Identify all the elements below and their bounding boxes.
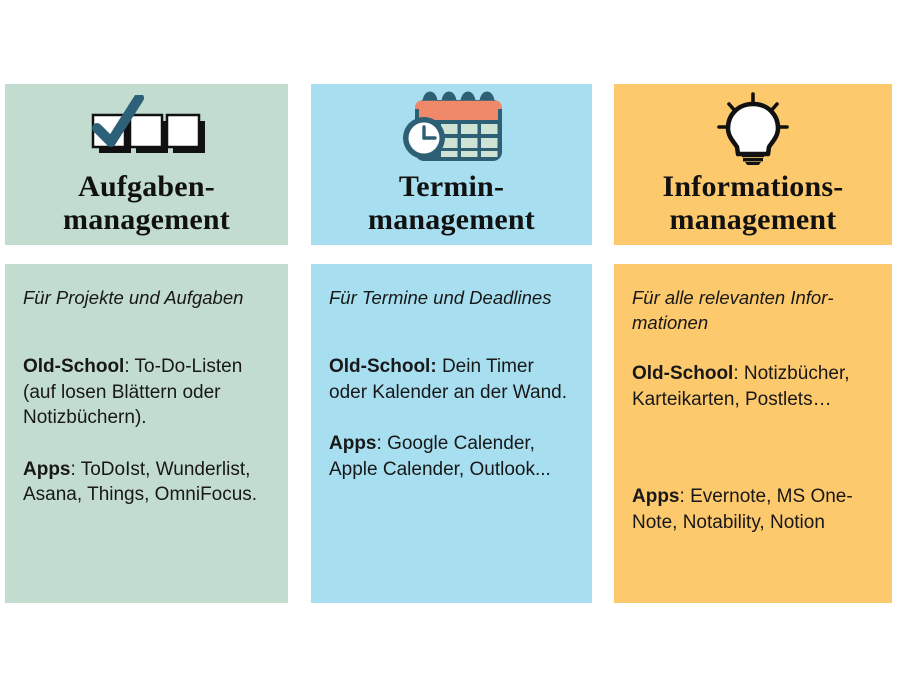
row-label: Old-School [23, 356, 124, 377]
row-separator: : [71, 459, 81, 480]
row-separator: : [124, 356, 134, 377]
header-card-terminmanagement: Termin- management [311, 84, 592, 245]
column-lead: Für alle relevanten Infor­mationen [632, 285, 874, 335]
row-separator: : [733, 363, 744, 384]
calendar-clock-icon [399, 92, 505, 164]
column-lead: Für Projekte und Aufgaben [23, 285, 270, 310]
row-apps: Apps: ToDoIst, Wunderlist, Asana, Things… [23, 457, 270, 508]
row-apps: Apps: Google Calender, Apple Calender, O… [329, 431, 574, 482]
row-separator: : [377, 433, 388, 454]
body-card-terminmanagement: Für Termine und Deadlines Old-School: De… [311, 264, 592, 603]
spacer [329, 405, 574, 431]
row-apps: Apps: Evernote, MS One-Note, Notability,… [632, 484, 874, 535]
checklist-icon [89, 92, 205, 164]
spacer [632, 335, 874, 361]
column-title: Termin- management [368, 170, 535, 236]
spacer [23, 431, 270, 457]
row-label: Apps [632, 486, 680, 507]
column-title: Aufgaben- management [63, 170, 230, 236]
column-terminmanagement: Termin- management Für Termine und Deadl… [311, 84, 592, 603]
row-label: Apps [23, 459, 71, 480]
row-separator: : [680, 486, 691, 507]
lightbulb-icon [707, 92, 799, 164]
column-lead: Für Termine und Deadlines [329, 285, 574, 310]
row-label: Old-School [632, 363, 733, 384]
spacer [632, 412, 874, 484]
column-informationsmanagement: Informations- management Für alle releva… [614, 84, 892, 603]
row-label: Old-School: [329, 356, 437, 377]
header-card-aufgabenmanagement: Aufgaben- management [5, 84, 288, 245]
row-old-school: Old-School: Notizbücher, Karteikarten, P… [632, 361, 874, 412]
body-card-aufgabenmanagement: Für Projekte und Aufgaben Old-School: To… [5, 264, 288, 603]
header-card-informationsmanagement: Informations- management [614, 84, 892, 245]
spacer [329, 310, 574, 354]
comparison-board: Aufgaben- management Für Projekte und Au… [0, 0, 902, 680]
body-card-informationsmanagement: Für alle relevanten Infor­mationen Old-S… [614, 264, 892, 603]
row-old-school: Old-School: Dein Timer oder Kalender an … [329, 354, 574, 405]
column-title: Informations- management [663, 170, 844, 236]
row-old-school: Old-School: To-Do-Listen (auf losen Blät… [23, 354, 270, 431]
spacer [23, 310, 270, 354]
row-label: Apps [329, 433, 377, 454]
column-aufgabenmanagement: Aufgaben- management Für Projekte und Au… [5, 84, 288, 603]
